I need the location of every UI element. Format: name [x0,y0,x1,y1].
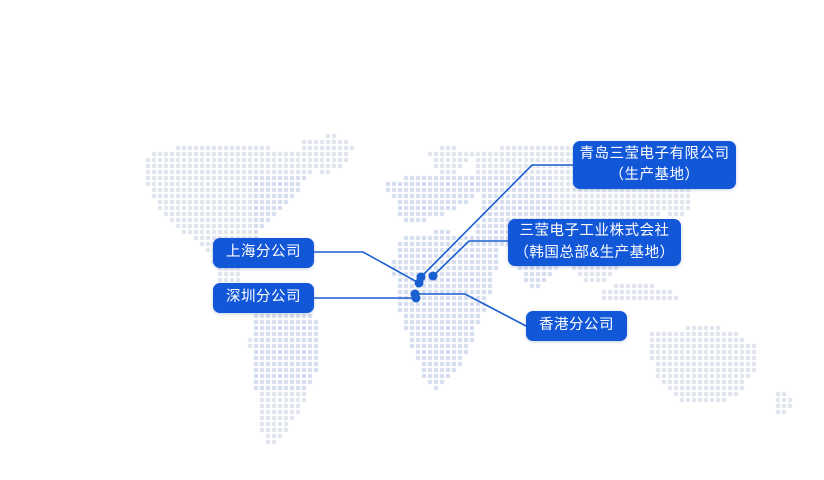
leader-line-hongkong-leader [415,294,526,326]
callout-shenzhen-line1: 深圳分公司 [226,287,301,308]
callout-qingdao-line1: 青岛三莹电子有限公司 [580,144,730,165]
callout-korea-line1: 三莹电子工业株式会社 [520,221,670,242]
callout-korea-line2: （韩国总部&生产基地） [514,243,674,264]
marker-dots-group [411,272,438,303]
callout-badge-korea-hq[interactable]: 三莹电子工业株式会社 （韩国总部&生产基地） [508,219,681,266]
leader-line-shanghai-leader [314,252,419,283]
leader-line-korea-leader [433,241,508,276]
map-marker-shenzhen[interactable] [412,294,421,303]
callout-badge-hongkong[interactable]: 香港分公司 [526,311,627,341]
callout-qingdao-line2: （生产基地） [610,165,700,186]
callout-badge-shenzhen[interactable]: 深圳分公司 [213,283,314,313]
callout-shanghai-line1: 上海分公司 [226,242,301,263]
map-marker-korea[interactable] [429,272,438,281]
connector-lines-layer [0,0,824,480]
callout-badge-shanghai[interactable]: 上海分公司 [213,238,314,268]
callout-badge-qingdao[interactable]: 青岛三莹电子有限公司 （生产基地） [573,141,736,189]
world-map-infographic: 青岛三莹电子有限公司 （生产基地） 三莹电子工业株式会社 （韩国总部&生产基地）… [0,0,824,480]
callout-hongkong-line1: 香港分公司 [539,315,614,336]
map-marker-shanghai[interactable] [415,279,424,288]
